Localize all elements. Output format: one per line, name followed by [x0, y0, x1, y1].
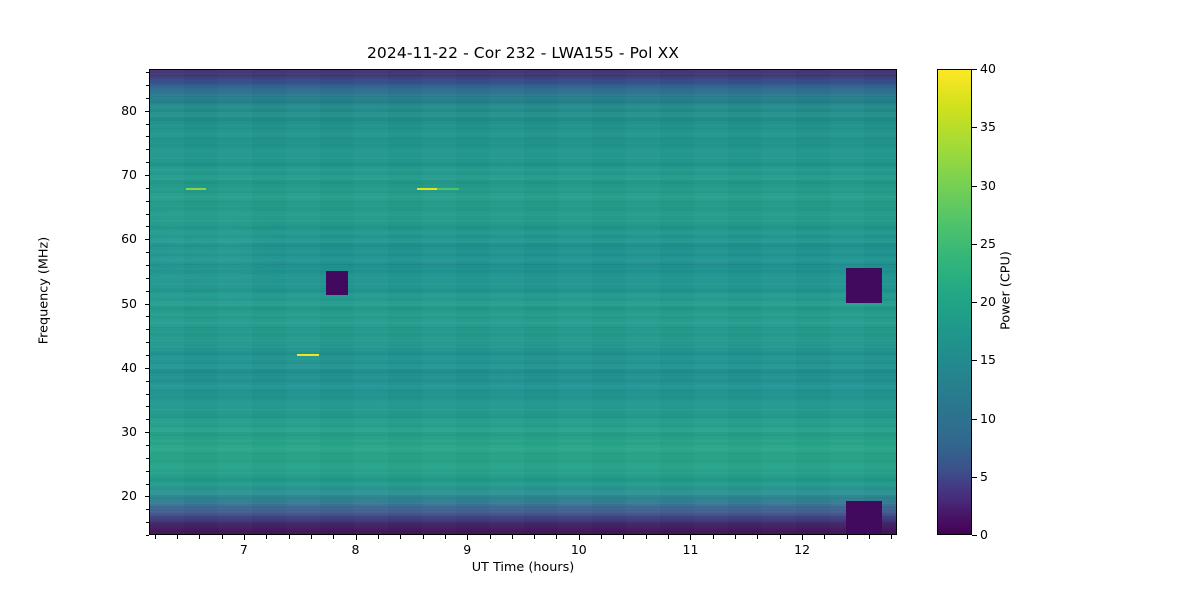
y-minor-tick [146, 188, 150, 189]
dropout-block-17mhz-late [846, 501, 883, 535]
x-minor-tick [847, 535, 848, 539]
x-minor-tick [266, 535, 267, 539]
y-minor-tick [146, 252, 150, 253]
colorbar-tick [972, 360, 977, 361]
y-minor-tick [146, 98, 150, 99]
x-minor-tick [311, 535, 312, 539]
x-minor-tick [445, 535, 446, 539]
y-minor-tick [146, 226, 150, 227]
y-major-tick [145, 368, 150, 369]
y-minor-tick [146, 136, 150, 137]
x-minor-tick [289, 535, 290, 539]
y-minor-tick [146, 85, 150, 86]
x-minor-tick [735, 535, 736, 539]
x-minor-tick [646, 535, 647, 539]
y-minor-tick [146, 484, 150, 485]
colorbar-tick [972, 477, 977, 478]
x-minor-tick [199, 535, 200, 539]
colorbar-gradient [938, 70, 971, 534]
y-minor-tick [146, 445, 150, 446]
x-minor-tick [824, 535, 825, 539]
x-major-tick [244, 535, 245, 540]
chart-title: 2024-11-22 - Cor 232 - LWA155 - Pol XX [0, 44, 1046, 62]
y-tick-label: 60 [97, 231, 137, 246]
bright-patch-layer [150, 200, 299, 311]
y-minor-tick [146, 149, 150, 150]
y-tick-label: 50 [97, 296, 137, 311]
x-minor-tick [780, 535, 781, 539]
y-tick-label: 20 [97, 488, 137, 503]
rfi-streak-68mhz-mid [417, 188, 437, 190]
x-minor-tick [668, 535, 669, 539]
x-major-tick [579, 535, 580, 540]
y-major-tick [145, 111, 150, 112]
dropout-block-52mhz-late [846, 268, 883, 303]
x-minor-tick [623, 535, 624, 539]
x-minor-tick [155, 535, 156, 539]
x-tick-label: 7 [224, 542, 264, 557]
x-minor-tick [891, 535, 892, 539]
y-minor-tick [146, 509, 150, 510]
x-major-tick [356, 535, 357, 540]
figure-canvas: 2024-11-22 - Cor 232 - LWA155 - Pol XX 7… [0, 0, 1200, 600]
colorbar-label: Power (CPU) [999, 201, 1014, 381]
y-minor-tick [146, 316, 150, 317]
x-minor-tick [333, 535, 334, 539]
y-major-tick [145, 175, 150, 176]
y-minor-tick [146, 471, 150, 472]
spectrogram-image [150, 70, 896, 534]
y-minor-tick [146, 342, 150, 343]
colorbar-tick [972, 69, 977, 70]
x-minor-tick [400, 535, 401, 539]
y-minor-tick [146, 329, 150, 330]
y-minor-tick [146, 265, 150, 266]
x-major-tick [467, 535, 468, 540]
y-minor-tick [146, 535, 150, 536]
x-minor-tick [490, 535, 491, 539]
x-minor-tick [423, 535, 424, 539]
y-minor-tick [146, 419, 150, 420]
y-minor-tick [146, 458, 150, 459]
rfi-streak-42mhz [297, 354, 318, 356]
y-minor-tick [146, 522, 150, 523]
x-minor-tick [556, 535, 557, 539]
x-tick-label: 9 [447, 542, 487, 557]
y-minor-tick [146, 394, 150, 395]
y-major-tick [145, 304, 150, 305]
colorbar-tick-label: 5 [980, 469, 1016, 484]
y-minor-tick [146, 214, 150, 215]
y-minor-tick [146, 201, 150, 202]
y-minor-tick [146, 278, 150, 279]
y-minor-tick [146, 291, 150, 292]
y-axis-label: Frequency (MHz) [37, 201, 52, 381]
colorbar-tick [972, 535, 977, 536]
x-tick-label: 11 [670, 542, 710, 557]
dropout-block-53mhz [326, 271, 347, 295]
x-major-tick [690, 535, 691, 540]
colorbar-tick [972, 127, 977, 128]
y-minor-tick [146, 72, 150, 73]
colorbar-tick [972, 244, 977, 245]
x-minor-tick [222, 535, 223, 539]
y-tick-label: 80 [97, 103, 137, 118]
x-minor-tick [534, 535, 535, 539]
x-tick-label: 12 [782, 542, 822, 557]
colorbar-tick-label: 35 [980, 119, 1016, 134]
spectrogram-axes[interactable] [149, 69, 897, 535]
y-minor-tick [146, 162, 150, 163]
y-minor-tick [146, 381, 150, 382]
y-major-tick [145, 496, 150, 497]
colorbar-axes[interactable] [937, 69, 972, 535]
x-major-tick [802, 535, 803, 540]
x-axis-label: UT Time (hours) [149, 560, 897, 575]
colorbar-tick [972, 186, 977, 187]
x-minor-tick [177, 535, 178, 539]
y-minor-tick [146, 406, 150, 407]
y-major-tick [145, 432, 150, 433]
rfi-streak-68mhz-mid-tail [437, 188, 459, 190]
x-minor-tick [601, 535, 602, 539]
x-tick-label: 8 [336, 542, 376, 557]
x-minor-tick [757, 535, 758, 539]
colorbar-tick-label: 10 [980, 411, 1016, 426]
colorbar-tick-label: 40 [980, 61, 1016, 76]
x-minor-tick [713, 535, 714, 539]
y-major-tick [145, 239, 150, 240]
colorbar-tick [972, 419, 977, 420]
colorbar-tick-label: 30 [980, 178, 1016, 193]
x-minor-tick [512, 535, 513, 539]
y-tick-label: 40 [97, 360, 137, 375]
colorbar-tick-label: 0 [980, 527, 1016, 542]
y-tick-label: 70 [97, 167, 137, 182]
y-minor-tick [146, 355, 150, 356]
colorbar-tick [972, 302, 977, 303]
y-tick-label: 30 [97, 424, 137, 439]
x-minor-tick [378, 535, 379, 539]
x-minor-tick [869, 535, 870, 539]
x-tick-label: 10 [559, 542, 599, 557]
y-minor-tick [146, 124, 150, 125]
rfi-streak-68mhz-early [186, 188, 206, 190]
